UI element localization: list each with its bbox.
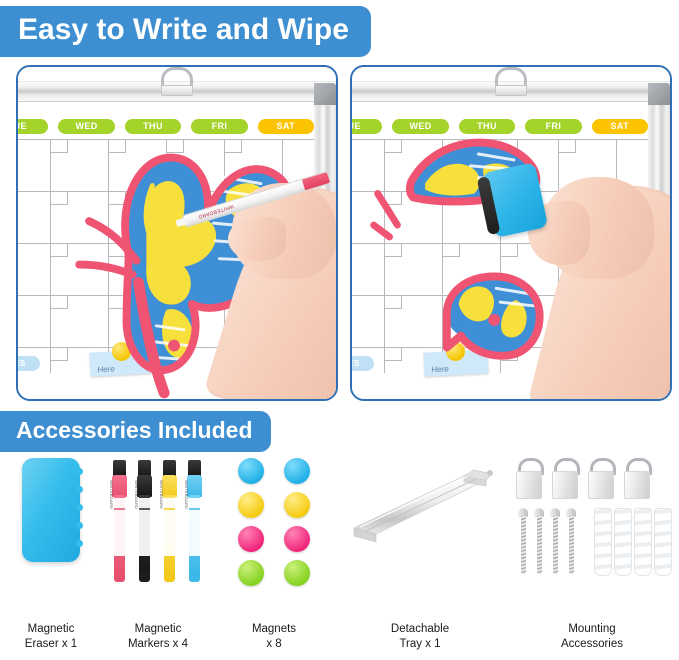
frame-right-edge	[314, 85, 336, 399]
accessories-section: Accessories Included WHITEBOARD	[0, 405, 679, 606]
caption-mounting: Mounting Accessories	[520, 622, 664, 652]
day-header: FRI	[525, 119, 581, 134]
magnet-pink	[284, 526, 310, 552]
tray-icon	[346, 458, 496, 562]
notes-pill: ES	[352, 356, 374, 371]
accessory-magnetic-markers: WHITEBOARD WHITEBOARD WHITEBOARD	[112, 458, 204, 586]
panel-wiping-demo: UE WED THU FRI SAT	[350, 65, 672, 401]
screw	[550, 508, 560, 574]
notes-pill: ES	[18, 356, 40, 371]
magnet-blue	[284, 458, 310, 484]
screw	[534, 508, 544, 574]
demo-panels: UE WED THU FRI SAT	[0, 65, 679, 405]
day-header: UE	[352, 119, 382, 134]
caption-line: Detachable	[352, 622, 488, 637]
magnet-yellow	[284, 492, 310, 518]
d-ring-hanger	[516, 458, 540, 498]
d-ring-hanger	[624, 458, 648, 498]
caption-line: Magnetic	[108, 622, 208, 637]
caption-detachable-tray: Detachable Tray x 1	[352, 622, 488, 652]
section-banner-accessories: Accessories Included	[0, 411, 271, 452]
marker-barrel-text: WHITEBOARD	[134, 480, 139, 509]
caption-magnetic-markers: Magnetic Markers x 4	[108, 622, 208, 652]
day-header: FRI	[191, 119, 247, 134]
calendar-day-headers: UE WED THU FRI SAT	[18, 119, 314, 134]
magnet-on-board	[446, 342, 465, 361]
magnet-blue	[238, 458, 264, 484]
caption-line: Mounting	[520, 622, 664, 637]
accessories-row: WHITEBOARD WHITEBOARD WHITEBOARD	[0, 458, 679, 606]
calendar-area-right: UE WED THU FRI SAT	[352, 119, 648, 373]
day-header: WED	[58, 119, 114, 134]
day-header: SAT	[592, 119, 648, 134]
caption-magnetic-eraser: Magnetic Eraser x 1	[4, 622, 98, 652]
whiteboard-left: UE WED THU FRI SAT	[18, 67, 336, 399]
calendar-grid	[18, 139, 314, 373]
write-wipe-section: Easy to Write and Wipe UE WED THU FRI SA…	[0, 0, 679, 405]
caption-line: Magnets	[228, 622, 320, 637]
caption-line: Eraser x 1	[4, 637, 98, 652]
accessory-mounting	[512, 458, 662, 574]
day-header: WED	[392, 119, 448, 134]
marker-cyan: WHITEBOARD	[187, 460, 202, 582]
marker-black: WHITEBOARD	[137, 460, 152, 582]
accessory-magnets	[238, 458, 310, 586]
marker-barrel-text: WHITEBOARD	[109, 480, 114, 509]
panel-writing-demo: UE WED THU FRI SAT	[16, 65, 338, 401]
wall-anchor	[634, 508, 650, 574]
day-header: THU	[125, 119, 181, 134]
caption-magnets: Magnets x 8	[228, 622, 320, 652]
frame-corner	[648, 83, 670, 105]
screw	[566, 508, 576, 574]
accessory-detachable-tray	[346, 458, 496, 562]
magnet-on-board	[112, 342, 131, 361]
caption-line: x 8	[228, 637, 320, 652]
accessory-magnetic-eraser	[22, 458, 80, 562]
whiteboard-right: UE WED THU FRI SAT	[352, 67, 670, 399]
marker-barrel-text: WHITEBOARD	[184, 480, 189, 509]
hanging-ring-base	[161, 85, 193, 96]
sticky-note-text: Here	[97, 364, 115, 374]
eraser-product-icon	[22, 458, 80, 562]
magnet-yellow	[238, 492, 264, 518]
magnet-pink	[238, 526, 264, 552]
magnet-green	[284, 560, 310, 586]
calendar-grid	[352, 139, 648, 373]
d-ring-hanger	[588, 458, 612, 498]
section-banner-write: Easy to Write and Wipe	[0, 6, 371, 57]
caption-line: Magnetic	[4, 622, 98, 637]
calendar-day-headers: UE WED THU FRI SAT	[352, 119, 648, 134]
frame-right-edge	[648, 85, 670, 399]
caption-line: Tray x 1	[352, 637, 488, 652]
day-header: UE	[18, 119, 48, 134]
marker-barrel-text: WHITEBOARD	[159, 480, 164, 509]
sticky-note-text: Here	[431, 364, 449, 374]
wall-anchor	[594, 508, 610, 574]
magnet-green	[238, 560, 264, 586]
caption-line: Markers x 4	[108, 637, 208, 652]
marker-yellow: WHITEBOARD	[162, 460, 177, 582]
frame-corner	[314, 83, 336, 105]
wall-anchor	[654, 508, 670, 574]
d-ring-hanger	[552, 458, 576, 498]
caption-line: Accessories	[520, 637, 664, 652]
screw	[518, 508, 528, 574]
wall-anchor	[614, 508, 630, 574]
calendar-area-left: UE WED THU FRI SAT	[18, 119, 314, 373]
marker-pink: WHITEBOARD	[112, 460, 127, 582]
day-header: THU	[459, 119, 515, 134]
hanging-ring-base	[495, 85, 527, 96]
day-header: SAT	[258, 119, 314, 134]
